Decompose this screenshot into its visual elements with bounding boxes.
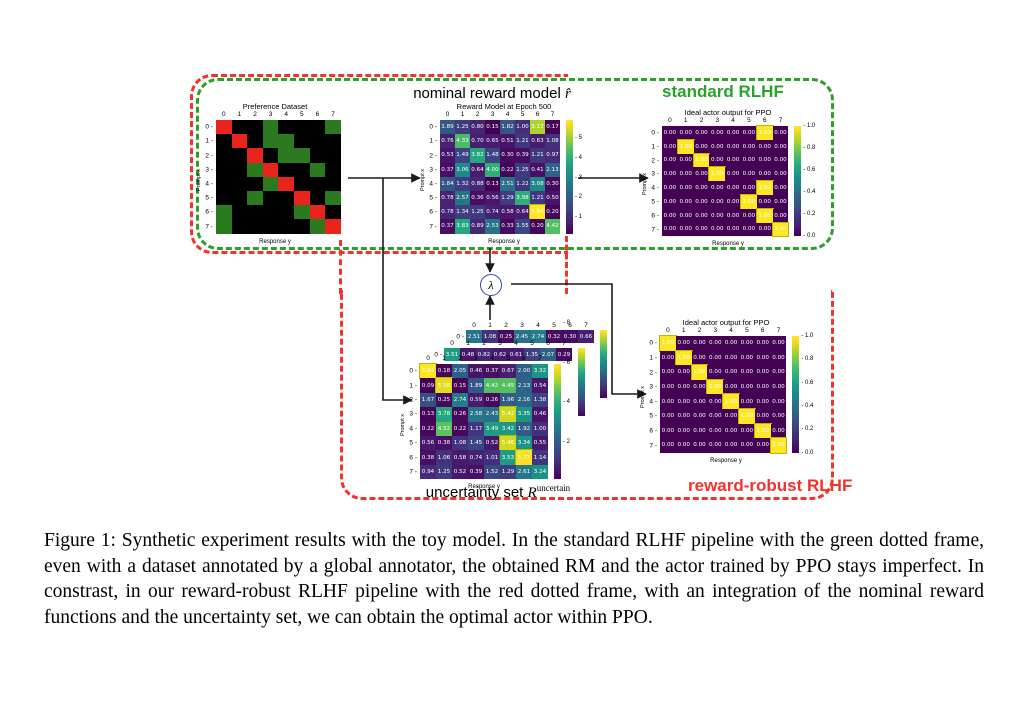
heatmap-cell: 0.58 — [500, 205, 515, 219]
colorbar-tick: - 0.2 — [803, 211, 815, 217]
x-tick: 7 — [777, 327, 781, 334]
x-tick: 5 — [745, 327, 749, 334]
heatmap-cell: 1.34 — [455, 205, 470, 219]
x-tick-labels: 01234567 — [216, 111, 341, 119]
y-axis-label: Prompt x — [640, 386, 646, 408]
heatmap-cell — [232, 163, 248, 177]
heatmap-cell: 0.00 — [725, 167, 741, 181]
x-tick: 5 — [521, 111, 525, 118]
heatmap-cell: 0.00 — [757, 223, 773, 237]
y-axis-label: Prompt x — [196, 169, 202, 191]
y-tick: 6 - — [205, 209, 213, 216]
x-tick: 3 — [715, 117, 719, 124]
heatmap-cell: 0.00 — [723, 409, 739, 424]
heatmap-cell: 0.00 — [662, 154, 678, 168]
heatmap-cell: 0.00 — [707, 351, 723, 366]
heatmap-cell: 0.00 — [678, 126, 694, 140]
heatmap-cell: 3.98 — [515, 191, 530, 205]
colorbar-tick: - 8 — [563, 320, 570, 326]
x-axis-label: Response y — [642, 458, 810, 464]
heatmap-cell: 0.00 — [692, 380, 708, 395]
x-tick: 2 — [458, 355, 462, 362]
heatmap-cell: 2.74 — [452, 393, 468, 407]
heatmap-cell: 0.00 — [741, 126, 757, 140]
colorbar-tick: - 4 — [563, 399, 570, 405]
heatmap-cell: 3.32 — [532, 364, 548, 378]
heatmap-cell: 4.00 — [485, 163, 500, 177]
heatmap-cell — [278, 191, 294, 205]
heatmap-cell: 1.89 — [440, 120, 455, 134]
plot-title: Ideal actor output for PPO — [644, 108, 812, 117]
colorbar-tick: - 2 — [563, 439, 570, 445]
heatmap-cell: 0.00 — [773, 126, 789, 140]
heatmap-cell: 0.00 — [676, 380, 692, 395]
heatmap-cell: 3.08 — [530, 177, 545, 191]
y-tick-labels: 0 -1 -2 -3 -4 -5 -6 -7 - — [648, 336, 657, 453]
y-tick-labels: 0 -1 -2 -3 -4 -5 -6 -7 - — [428, 120, 437, 234]
heatmap-cell: 0.00 — [662, 167, 678, 181]
y-tick: 3 - — [429, 166, 437, 173]
heatmap-cell: 1.67 — [420, 393, 436, 407]
x-tick: 2 — [476, 111, 480, 118]
heatmap-cell: 0.00 — [692, 409, 708, 424]
heatmap-cell: 0.00 — [725, 140, 741, 154]
heatmap-cell: 0.36 — [470, 191, 485, 205]
heatmap-cell — [232, 177, 248, 191]
heatmap-cell — [263, 177, 279, 191]
heatmap-cell: 2.05 — [452, 364, 468, 378]
heatmap-cell — [216, 205, 232, 219]
heatmap-cell: 1.00 — [757, 209, 773, 223]
heatmap-cell: 0.00 — [739, 380, 755, 395]
heatmap-cell: 1.00 — [660, 336, 676, 351]
heatmap-cell: 0.00 — [757, 167, 773, 181]
heatmap-cell: 0.00 — [709, 140, 725, 154]
x-axis-label: Response y — [200, 239, 350, 245]
heatmap-cell: 2.53 — [485, 219, 500, 233]
y-tick: 0 - — [651, 129, 659, 136]
heatmap-cell: 0.00 — [739, 438, 755, 453]
heatmap-cell — [325, 219, 341, 233]
heatmap-cell: 5.42 — [500, 407, 516, 421]
heatmap-cell — [216, 148, 232, 162]
y-tick: 7 - — [649, 442, 657, 449]
heatmap-grid: 1.891.250.800.151.821.005.170.170.764.33… — [440, 120, 560, 234]
heatmap-cell: 0.00 — [741, 209, 757, 223]
y-tick: 2 - — [429, 152, 437, 159]
heatmap-cell: 0.30 — [545, 177, 560, 191]
heatmap-cell — [294, 148, 310, 162]
y-tick: 7 - — [409, 469, 417, 476]
heatmap-cell: 0.00 — [739, 394, 755, 409]
heatmap-cell: 1.21 — [530, 148, 545, 162]
heatmap-cell: 1.52 — [484, 465, 500, 479]
heatmap-cell: 1.82 — [500, 120, 515, 134]
colorbar-tick: - 3 — [575, 175, 582, 181]
heatmap-cell: 0.39 — [515, 148, 530, 162]
x-tick: 5 — [506, 355, 510, 362]
heatmap-cell — [310, 148, 326, 162]
x-axis-label: Response y — [404, 484, 564, 490]
heatmap-cell — [247, 148, 263, 162]
heatmap-cell: 1.00 — [694, 154, 710, 168]
heatmap-cell: 4.42 — [545, 219, 560, 233]
x-tick: 4 — [729, 327, 733, 334]
heatmap-cell: 0.00 — [662, 181, 678, 195]
heatmap-cell: 1.00 — [773, 223, 789, 237]
heatmap-cell: 0.88 — [470, 177, 485, 191]
heatmap-cell: 0.66 — [578, 330, 594, 343]
y-axis-label: Prompt x — [420, 169, 426, 191]
heatmap-cell: 0.00 — [694, 195, 710, 209]
heatmap-cell — [278, 219, 294, 233]
y-tick: 2 - — [205, 152, 213, 159]
heatmap-cell: 5.46 — [500, 436, 516, 450]
heatmap-cell: 0.00 — [707, 394, 723, 409]
heatmap-cell: 2.57 — [455, 191, 470, 205]
heatmap-cell: 0.00 — [694, 140, 710, 154]
heatmap-cell: 4.45 — [500, 378, 516, 392]
heatmap-cell: 0.15 — [452, 378, 468, 392]
heatmap-cell: 0.00 — [692, 394, 708, 409]
x-tick: 6 — [546, 340, 550, 347]
heatmap-cell: 0.67 — [500, 364, 516, 378]
heatmap-cell: 0.00 — [662, 223, 678, 237]
heatmap-cell — [263, 219, 279, 233]
y-tick: 5 - — [651, 198, 659, 205]
heatmap-cell: 0.00 — [709, 181, 725, 195]
heatmap-cell: 0.63 — [530, 134, 545, 148]
heatmap-cell: 0.00 — [771, 380, 787, 395]
heatmap-cell: 0.00 — [662, 126, 678, 140]
heatmap-cell: 0.00 — [723, 380, 739, 395]
heatmap-cell: 0.00 — [709, 209, 725, 223]
heatmap-cell: 0.55 — [532, 436, 548, 450]
colorbar — [792, 336, 799, 453]
plot-ideal-actor-output-standard: Ideal actor output for PPO012345670 -1 -… — [644, 106, 812, 246]
heatmap-cell: 0.00 — [678, 223, 694, 237]
heatmap-cell: 0.70 — [470, 134, 485, 148]
heatmap-cell — [232, 205, 248, 219]
heatmap-cell: 0.00 — [741, 167, 757, 181]
colorbar-tick: - 0.6 — [801, 380, 813, 386]
x-tick: 0 — [450, 340, 454, 347]
heatmap-cell: 1.00 — [757, 126, 773, 140]
x-tick: 3 — [491, 111, 495, 118]
heatmap-cell: 5.58 — [436, 378, 452, 392]
heatmap-cell: 0.00 — [694, 167, 710, 181]
heatmap-cell: 0.33 — [500, 219, 515, 233]
x-tick-labels: 01234567 — [444, 340, 572, 348]
heatmap-cell: 0.00 — [707, 365, 723, 380]
heatmap-cell: 4.42 — [484, 378, 500, 392]
heatmap-cell: 1.00 — [692, 365, 708, 380]
heatmap-cell — [247, 177, 263, 191]
heatmap-cell: 0.13 — [420, 407, 436, 421]
heatmap-cell: 1.01 — [484, 450, 500, 464]
x-tick: 7 — [779, 117, 783, 124]
y-tick: 1 - — [205, 138, 213, 145]
heatmap-cell — [216, 134, 232, 148]
heatmap-cell: 0.00 — [660, 394, 676, 409]
heatmap-cell: 0.22 — [452, 422, 468, 436]
y-tick: 6 - — [429, 209, 437, 216]
heatmap-cell: 0.52 — [452, 465, 468, 479]
heatmap-cell: 0.00 — [773, 181, 789, 195]
x-tick: 1 — [488, 322, 492, 329]
x-tick: 1 — [684, 117, 688, 124]
colorbar — [566, 120, 573, 234]
y-tick-labels: 0 -1 -2 -3 -4 -5 -6 -7 - — [204, 120, 213, 234]
heatmap-cell: 0.00 — [755, 351, 771, 366]
heatmap-cell — [247, 134, 263, 148]
heatmap-cell: 1.00 — [515, 120, 530, 134]
heatmap-cell: 0.56 — [485, 191, 500, 205]
heatmap-cell: 1.21 — [530, 191, 545, 205]
heatmap-cell — [310, 177, 326, 191]
x-tick: 0 — [446, 111, 450, 118]
heatmap-cell: 0.00 — [773, 154, 789, 168]
heatmap-cell — [263, 120, 279, 134]
heatmap-cell: 0.64 — [470, 163, 485, 177]
heatmap-cell: 0.00 — [771, 394, 787, 409]
heatmap-cell: 0.00 — [723, 336, 739, 351]
heatmap-cell — [310, 163, 326, 177]
heatmap-cell: 0.37 — [484, 364, 500, 378]
heatmap-cell — [263, 134, 279, 148]
y-tick: 4 - — [429, 180, 437, 187]
y-tick: 3 - — [205, 166, 213, 173]
x-tick: 2 — [253, 111, 257, 118]
heatmap-grid: 0.000.000.000.000.000.001.000.000.001.00… — [662, 126, 788, 236]
heatmap-cell — [294, 205, 310, 219]
colorbar-tick: - 0.6 — [803, 167, 815, 173]
x-tick: 6 — [536, 111, 540, 118]
heatmap-cell: 0.51 — [500, 134, 515, 148]
x-tick: 4 — [731, 117, 735, 124]
y-axis-label: Prompt x — [642, 173, 648, 195]
plot-title: Reward Model at Epoch 500 — [424, 102, 584, 111]
heatmap-cell: 0.00 — [757, 195, 773, 209]
heatmap-cell: 0.00 — [771, 365, 787, 380]
plot-preference-dataset: Preference Dataset012345670 -1 -2 -3 -4 … — [200, 100, 350, 245]
heatmap-cell: 0.00 — [709, 126, 725, 140]
heatmap-cell: 1.55 — [515, 219, 530, 233]
y-tick: 7 - — [651, 226, 659, 233]
heatmap-cell — [325, 205, 341, 219]
x-tick: 1 — [466, 340, 470, 347]
x-axis-label: Response y — [424, 239, 584, 245]
x-tick: 6 — [763, 117, 767, 124]
heatmap-cell: 2.00 — [516, 364, 532, 378]
heatmap-cell: 1.25 — [470, 205, 485, 219]
x-tick: 1 — [238, 111, 242, 118]
heatmap-cell: 0.00 — [678, 167, 694, 181]
heatmap-cell: 0.00 — [725, 195, 741, 209]
heatmap-cell: 1.25 — [436, 465, 452, 479]
x-tick: 7 — [584, 322, 588, 329]
heatmap-cell: 0.00 — [741, 223, 757, 237]
heatmap-cell: 0.00 — [662, 209, 678, 223]
heatmap-cell — [232, 120, 248, 134]
heatmap-cell: 2.51 — [500, 177, 515, 191]
plot-ideal-actor-output-robust: Ideal actor output for PPO012345670 -1 -… — [642, 316, 810, 466]
heatmap-cell: 1.89 — [468, 378, 484, 392]
heatmap-cell — [216, 191, 232, 205]
heatmap-cell: 0.00 — [707, 409, 723, 424]
figure-diagram: standard RLHF reward-robust RLHF nominal… — [0, 0, 1024, 520]
plot-title: Preference Dataset — [200, 102, 350, 111]
heatmap-cell — [294, 191, 310, 205]
y-tick: 5 - — [409, 440, 417, 447]
heatmap-cell: 1.06 — [436, 450, 452, 464]
colorbar-tick: - 0.8 — [803, 145, 815, 151]
heatmap-cell: 1.00 — [678, 140, 694, 154]
heatmap-cell: 2.13 — [545, 163, 560, 177]
heatmap-cell: 2.43 — [484, 407, 500, 421]
heatmap-cell: 2.61 — [516, 465, 532, 479]
heatmap-cell — [278, 205, 294, 219]
y-tick: 2 - — [409, 397, 417, 404]
heatmap-cell: 1.32 — [455, 177, 470, 191]
colorbar — [794, 126, 801, 236]
reward-robust-rlhf-label: reward-robust RLHF — [688, 476, 852, 496]
heatmap-cell: 0.00 — [660, 424, 676, 439]
heatmap-cell: 0.00 — [741, 140, 757, 154]
heatmap-cell: 0.15 — [485, 120, 500, 134]
heatmap-cell: 0.53 — [440, 148, 455, 162]
x-tick: 0 — [668, 117, 672, 124]
heatmap-cell: 1.00 — [741, 195, 757, 209]
heatmap-cell: 0.38 — [420, 450, 436, 464]
heatmap-cell: 4.33 — [455, 134, 470, 148]
colorbar — [578, 348, 585, 416]
heatmap-cell: 1.29 — [500, 191, 515, 205]
heatmap-cell: 0.52 — [484, 436, 500, 450]
y-tick: 5 - — [649, 413, 657, 420]
heatmap-cell: 1.00 — [723, 394, 739, 409]
heatmap-cell: 0.22 — [500, 163, 515, 177]
heatmap-cell: 1.08 — [452, 436, 468, 450]
colorbar-tick: - 0.4 — [803, 189, 815, 195]
x-tick: 5 — [530, 340, 534, 347]
colorbar-tick: - 0.8 — [801, 356, 813, 362]
heatmap-cell — [247, 163, 263, 177]
y-axis-label: Prompt x — [400, 414, 406, 436]
red-frame-left-connector — [339, 240, 345, 294]
y-tick: 1 - — [429, 138, 437, 145]
heatmap-cell — [310, 191, 326, 205]
heatmap-cell — [278, 177, 294, 191]
x-tick: 6 — [522, 355, 526, 362]
heatmap-cell: 1.29 — [500, 465, 516, 479]
y-tick: 3 - — [651, 171, 659, 178]
y-tick: 7 - — [205, 223, 213, 230]
x-tick: 4 — [490, 355, 494, 362]
heatmap-cell: 1.22 — [515, 177, 530, 191]
x-tick: 6 — [761, 327, 765, 334]
x-tick-labels: 01234567 — [660, 327, 786, 335]
heatmap-cell: 0.25 — [436, 393, 452, 407]
x-tick: 4 — [284, 111, 288, 118]
heatmap-cell: 0.09 — [420, 378, 436, 392]
x-tick: 1 — [442, 355, 446, 362]
heatmap-cell: 0.00 — [725, 209, 741, 223]
heatmap-cell: 0.00 — [678, 209, 694, 223]
heatmap-cell — [294, 177, 310, 191]
y-tick: 4 - — [649, 398, 657, 405]
x-tick: 3 — [269, 111, 273, 118]
heatmap-cell: 5.17 — [530, 120, 545, 134]
heatmap-cell: 3.82 — [470, 148, 485, 162]
figure-caption: Figure 1: Synthetic experiment results w… — [44, 528, 984, 630]
x-tick: 0 — [426, 355, 430, 362]
y-tick: 0 - — [205, 124, 213, 131]
heatmap-cell: 0.94 — [420, 465, 436, 479]
heatmap-cell: 0.20 — [545, 205, 560, 219]
x-tick-labels: 01234567 — [440, 111, 560, 119]
y-tick: 0 - — [429, 124, 437, 131]
heatmap-cell: 0.00 — [741, 181, 757, 195]
heatmap-cell: 1.00 — [707, 380, 723, 395]
y-tick: 4 - — [205, 180, 213, 187]
y-tick: 3 - — [649, 384, 657, 391]
heatmap-cell — [278, 134, 294, 148]
plot-title: Ideal actor output for PPO — [642, 318, 810, 327]
heatmap-cell: 1.84 — [440, 177, 455, 191]
colorbar — [554, 364, 561, 479]
heatmap-cell: 0.00 — [773, 167, 789, 181]
heatmap-cell — [278, 120, 294, 134]
colorbar-tick: - 1.0 — [803, 123, 815, 129]
heatmap-cell: 0.00 — [771, 424, 787, 439]
x-tick: 0 — [472, 322, 476, 329]
x-tick: 7 — [538, 355, 542, 362]
colorbar-tick: - 6 — [563, 360, 570, 366]
y-tick: 3 - — [409, 411, 417, 418]
x-tick: 7 — [331, 111, 335, 118]
heatmap-cell: 5.94 — [530, 205, 545, 219]
heatmap-cell — [325, 191, 341, 205]
heatmap-cell: 1.45 — [468, 436, 484, 450]
colorbar-tick: - 2 — [575, 194, 582, 200]
heatmap-cell: 1.49 — [455, 148, 470, 162]
heatmap-cell: 3.35 — [516, 407, 532, 421]
heatmap-cell: 0.00 — [692, 351, 708, 366]
heatmap-cell: 0.00 — [755, 438, 771, 453]
heatmap-cell: 0.00 — [755, 409, 771, 424]
x-tick: 3 — [713, 327, 717, 334]
x-tick: 0 — [222, 111, 226, 118]
heatmap-cell: 1.96 — [500, 393, 516, 407]
heatmap-cell — [263, 148, 279, 162]
colorbar-tick: - 0.2 — [801, 426, 813, 432]
heatmap-cell: 0.41 — [530, 163, 545, 177]
heatmap-cell: 0.00 — [692, 336, 708, 351]
heatmap-cell: 3.06 — [455, 163, 470, 177]
heatmap-cell: 5.94 — [420, 364, 436, 378]
plot-reward-model-epoch-500: Reward Model at Epoch 500012345670 -1 -2… — [424, 100, 584, 245]
heatmap-cell: 1.25 — [515, 163, 530, 177]
heatmap-cell: 0.78 — [440, 205, 455, 219]
heatmap-cell: 1.21 — [515, 134, 530, 148]
x-tick: 3 — [498, 340, 502, 347]
heatmap-cell: 0.76 — [440, 134, 455, 148]
y-tick: 2 - — [649, 369, 657, 376]
x-tick: 2 — [482, 340, 486, 347]
heatmap-cell: 0.00 — [678, 195, 694, 209]
heatmap-cell: 0.00 — [660, 365, 676, 380]
